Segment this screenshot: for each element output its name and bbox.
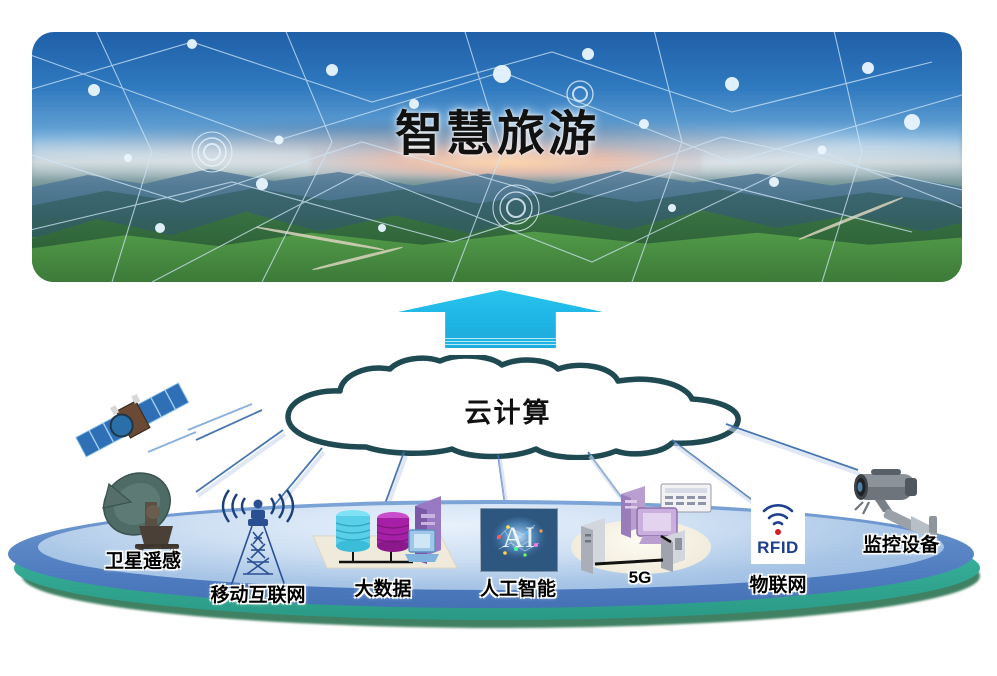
node-surveillance-equipment[interactable]: 监控设备 xyxy=(826,466,976,576)
satellite-dish-icon xyxy=(87,468,199,554)
node-label-big-data: 大数据 xyxy=(354,574,411,601)
ai-image: AI xyxy=(480,508,558,572)
node-label-mobile-internet: 移动互联网 xyxy=(210,580,305,607)
rfid-label: RFID xyxy=(751,538,805,558)
node-label-artificial-intelligence: 人工智能 xyxy=(480,574,556,601)
node-label-5g: 5G xyxy=(629,568,652,588)
ai-brain-icon: AI xyxy=(480,508,556,570)
rfid-card: RFID xyxy=(751,498,805,564)
node-big-data[interactable]: 大数据 xyxy=(305,492,461,602)
radio-tower-icon xyxy=(215,482,301,588)
network-computers-icon xyxy=(565,480,715,576)
diagram-canvas: 智慧旅游 云计算 xyxy=(0,0,997,676)
node-internet-of-things[interactable]: RFID 物联网 xyxy=(718,498,838,608)
database-server-icon xyxy=(309,492,457,572)
rfid-icon: RFID xyxy=(751,498,805,566)
node-5g[interactable]: 5G xyxy=(560,480,720,590)
node-label-surveillance-equipment: 监控设备 xyxy=(863,530,939,557)
node-label-internet-of-things: 物联网 xyxy=(749,570,806,597)
ai-badge-text: AI xyxy=(481,521,557,555)
satellite-graphic xyxy=(60,370,200,470)
cctv-camera-icon xyxy=(849,466,953,538)
satellite-icon xyxy=(60,370,200,470)
node-label-satellite-remote-sensing: 卫星遥感 xyxy=(105,546,181,573)
